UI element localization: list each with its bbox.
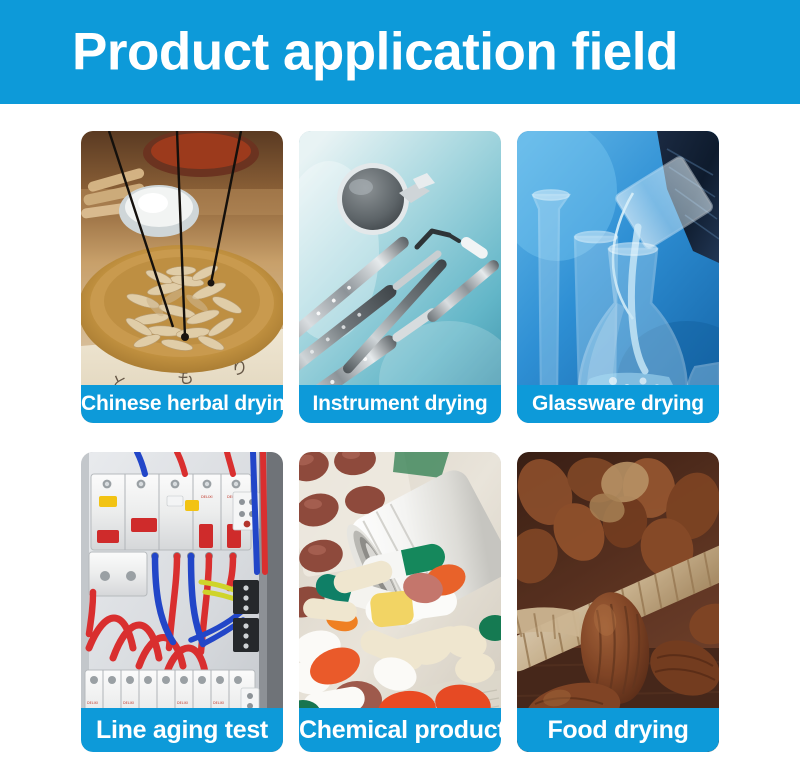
food-drying-photo [517, 452, 719, 752]
laboratory-glassware-illustration [517, 131, 719, 423]
svg-text:DELIXI: DELIXI [201, 495, 213, 499]
application-card-food-drying[interactable]: Food drying [517, 452, 719, 752]
dental-instruments-illustration [299, 131, 501, 423]
page-title: Product application field [72, 22, 678, 83]
product-application-field-page: Product application field [0, 0, 800, 770]
chemical-products-photo [299, 452, 501, 752]
glassware-drying-photo [517, 131, 719, 423]
header-banner: Product application field [0, 0, 800, 104]
chinese-herbal-drying-photo: と も り [81, 131, 283, 423]
card-caption-glassware-drying: Glassware drying [517, 385, 719, 423]
application-card-chemical-products[interactable]: Chemical products [299, 452, 501, 752]
application-card-instrument-drying[interactable]: Instrument drying [299, 131, 501, 423]
application-card-grid: と も り [81, 131, 719, 752]
card-caption-chemical-products: Chemical products [299, 708, 501, 752]
application-card-chinese-herbal-drying[interactable]: と も り [81, 131, 283, 423]
card-caption-chinese-herbal-drying: Chinese herbal drying [81, 385, 283, 423]
svg-text:DELIXI: DELIXI [123, 701, 134, 705]
application-card-glassware-drying[interactable]: Glassware drying [517, 131, 719, 423]
card-caption-line-aging-test: Line aging test [81, 708, 283, 752]
card-caption-instrument-drying: Instrument drying [299, 385, 501, 423]
pills-illustration [299, 452, 501, 752]
svg-text:DELIXI: DELIXI [87, 701, 98, 705]
svg-text:DELIXI: DELIXI [213, 701, 224, 705]
application-card-line-aging-test[interactable]: DELIXI DELIXI [81, 452, 283, 752]
card-caption-food-drying: Food drying [517, 708, 719, 752]
svg-text:DELIXI: DELIXI [177, 701, 188, 705]
dried-fruit-illustration [517, 452, 719, 752]
electrical-panel-illustration: DELIXI DELIXI [81, 452, 283, 752]
line-aging-test-photo: DELIXI DELIXI [81, 452, 283, 752]
instrument-drying-photo [299, 131, 501, 423]
herbal-illustration: と も り [81, 131, 283, 423]
